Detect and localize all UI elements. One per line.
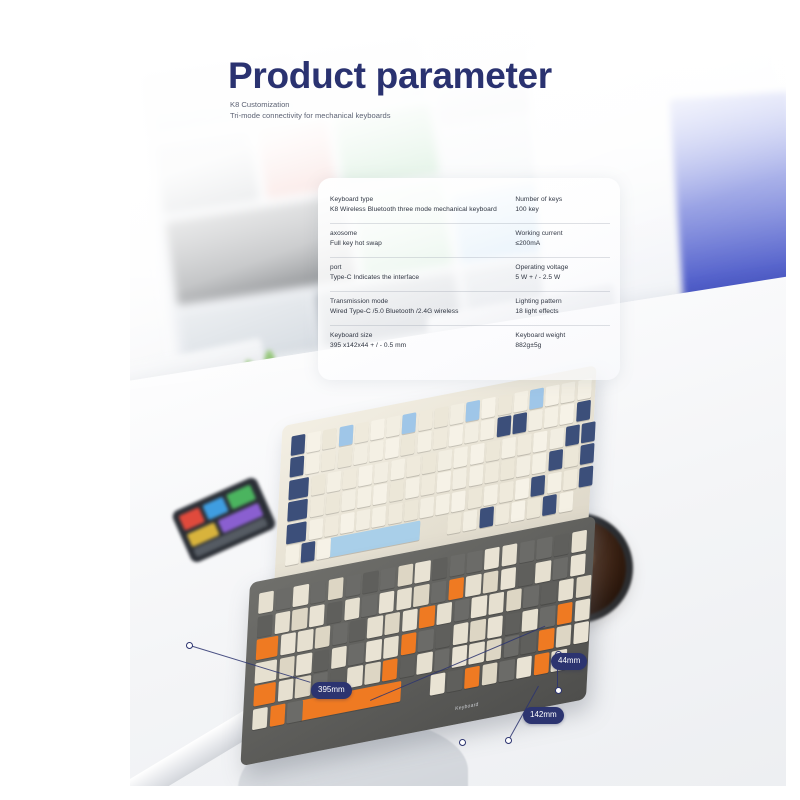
keycap [362, 570, 378, 594]
keycap [486, 638, 502, 662]
keycap [577, 378, 592, 400]
keycap [349, 619, 365, 643]
keycap [297, 629, 313, 653]
spec-row: Keyboard typeK8 Wireless Bluetooth three… [330, 190, 610, 224]
keycap [480, 419, 495, 441]
keycap [344, 597, 360, 621]
keycap [505, 612, 521, 636]
keycap [325, 492, 340, 514]
keycap [379, 590, 395, 614]
keycap [565, 424, 580, 446]
keycap [353, 443, 368, 465]
keycap [549, 427, 564, 449]
keycap [405, 477, 420, 499]
keycap [501, 436, 516, 458]
keycap [305, 453, 320, 475]
keycap [308, 518, 323, 540]
keycap [419, 605, 435, 629]
spec-value: Wired Type-C /5.0 Bluetooth /2.4G wirele… [330, 307, 515, 317]
keycap [481, 662, 497, 686]
spec-value: K8 Wireless Bluetooth three mode mechani… [330, 205, 515, 215]
keycap [452, 622, 468, 646]
keycap [483, 484, 498, 506]
keycap [373, 483, 388, 505]
keycap [523, 585, 539, 609]
keycap [447, 669, 463, 693]
spec-cell-right: Number of keys100 key [515, 195, 610, 214]
keycap [328, 577, 344, 601]
keycap [519, 540, 535, 564]
keycap [465, 573, 481, 597]
keycap [557, 602, 573, 626]
keycap [451, 490, 466, 512]
keycap [399, 655, 415, 679]
keycap [432, 557, 448, 581]
page-subtitle: K8 Customization Tri-mode connectivity f… [230, 99, 391, 122]
spec-key: Lighting pattern [515, 297, 610, 307]
keycap [277, 679, 293, 703]
keycap [361, 593, 377, 617]
keycap [418, 409, 433, 431]
keycap [558, 578, 574, 602]
keycap [552, 556, 568, 580]
keycap [495, 503, 510, 525]
keycap [576, 400, 591, 422]
keycap [516, 655, 532, 679]
keycap [436, 602, 452, 626]
keycap [513, 391, 528, 413]
keycap [437, 471, 452, 493]
keycap [522, 608, 538, 632]
keycap [563, 468, 578, 490]
keycap [274, 610, 290, 634]
keycap [384, 612, 400, 636]
keycap [434, 406, 449, 428]
keycap [454, 599, 470, 623]
keycap [536, 536, 552, 560]
page-title: Product parameter [228, 55, 552, 97]
keycap [372, 505, 387, 527]
keycap [301, 541, 316, 563]
keycap [487, 615, 503, 639]
keycap [454, 446, 469, 468]
keycap [310, 474, 325, 496]
spec-value: ≤200mA [515, 239, 610, 249]
keycap [528, 409, 543, 431]
keycap [287, 700, 303, 724]
keycap [342, 467, 357, 489]
keycap [450, 403, 465, 425]
spec-value: 395 x142x44 + / - 0.5 mm [330, 341, 515, 351]
keycap [496, 416, 511, 438]
keycap [529, 387, 544, 409]
keycap [464, 422, 479, 444]
keycap [544, 406, 559, 428]
keycap [488, 592, 504, 616]
keycap [354, 421, 369, 443]
keycap [545, 384, 560, 406]
keycap [484, 462, 499, 484]
keycap [499, 481, 514, 503]
spec-cell-left: axosomeFull key hot swap [330, 229, 515, 248]
keycap [385, 437, 400, 459]
keycap [326, 470, 341, 492]
keycap [358, 464, 373, 486]
keycap [280, 632, 296, 656]
keycap [578, 465, 593, 487]
keycap [575, 575, 591, 599]
product-parameter-page: Keyboard 395mm 142mm 44mm Product parame… [0, 0, 800, 800]
keycap [386, 415, 401, 437]
keycap [499, 659, 515, 683]
keycap [389, 480, 404, 502]
keycap [484, 547, 500, 571]
keycap [533, 430, 548, 452]
keycap [449, 425, 464, 447]
keycap [573, 621, 589, 645]
keycap [293, 584, 309, 608]
keycap [463, 509, 478, 531]
keycap [560, 403, 575, 425]
keycap [469, 443, 484, 465]
screen-tile [154, 130, 259, 213]
keycap [416, 652, 432, 676]
keycap [332, 622, 348, 646]
keycap [452, 468, 467, 490]
keycap [548, 449, 563, 471]
keycap [383, 635, 399, 659]
keycap [288, 477, 309, 500]
keycap [581, 421, 596, 443]
keycap [347, 665, 363, 689]
keycap [296, 652, 312, 676]
keycap [367, 615, 383, 639]
keycap [451, 645, 467, 669]
keycap [518, 563, 534, 587]
keycap [538, 628, 554, 652]
spec-key: Operating voltage [515, 263, 610, 273]
keycap [535, 560, 551, 584]
keycap [506, 588, 522, 612]
keycap [467, 550, 483, 574]
keycap [497, 394, 512, 416]
keycap [421, 474, 436, 496]
keycap [485, 440, 500, 462]
keycap [527, 497, 542, 519]
spec-row: portType-C Indicates the interfaceOperat… [330, 258, 610, 292]
spec-table: Keyboard typeK8 Wireless Bluetooth three… [330, 190, 610, 372]
keycap [521, 632, 537, 656]
keycap [543, 494, 558, 516]
spec-value: 18 light effects [515, 307, 610, 317]
spec-cell-right: Working current≤200mA [515, 229, 610, 248]
keycap [321, 450, 336, 472]
keycap [431, 580, 447, 604]
keycap [310, 580, 326, 604]
keycap [275, 587, 291, 611]
keycap [540, 582, 556, 606]
keycap [448, 577, 464, 601]
keycap [404, 499, 419, 521]
keycap [400, 632, 416, 656]
keycap [561, 381, 576, 403]
keycap [555, 625, 571, 649]
keycap [307, 431, 322, 453]
spec-value: 882g±5g [515, 341, 610, 351]
keycap [517, 433, 532, 455]
spec-key: Keyboard size [330, 331, 515, 341]
spec-cell-left: Keyboard size395 x142x44 + / - 0.5 mm [330, 331, 515, 350]
keycap [419, 496, 434, 518]
keycap [356, 508, 371, 530]
keycap [258, 590, 274, 614]
spec-row: Transmission modeWired Type-C /5.0 Bluet… [330, 292, 610, 326]
keycap [422, 452, 437, 474]
keycap [380, 567, 396, 591]
keycap [532, 452, 547, 474]
keycap [468, 465, 483, 487]
keycap [479, 506, 494, 528]
keycap [418, 629, 434, 653]
keycap [501, 543, 517, 567]
spec-cell-right: Operating voltage5 W + / - 2.5 W [515, 263, 610, 282]
spec-key: axosome [330, 229, 515, 239]
keycap [413, 583, 429, 607]
keycap [315, 626, 331, 650]
keycap [341, 489, 356, 511]
spec-cell-left: portType-C Indicates the interface [330, 263, 515, 282]
keycap [435, 493, 450, 515]
keycap [417, 431, 432, 453]
keycap [402, 412, 417, 434]
spec-cell-right: Keyboard weight882g±5g [515, 331, 610, 350]
product-photo: Keyboard [130, 0, 786, 786]
keycap [291, 434, 306, 456]
keycap [388, 502, 403, 524]
keycap [481, 397, 496, 419]
keycap [357, 486, 372, 508]
keycap [551, 649, 567, 673]
keycap [257, 614, 273, 638]
keycap [574, 598, 590, 622]
keycap [330, 669, 346, 693]
keycap [533, 652, 549, 676]
keycap [285, 544, 300, 566]
keycap [571, 530, 587, 554]
keycap [326, 600, 342, 624]
keycap [309, 496, 324, 518]
keycap [295, 675, 311, 699]
keycap [570, 553, 586, 577]
spec-cell-left: Keyboard typeK8 Wireless Bluetooth three… [330, 195, 515, 214]
spec-key: Keyboard type [330, 195, 515, 205]
keycap [366, 639, 382, 663]
keycap [553, 533, 569, 557]
keycap [364, 662, 380, 686]
keycap [512, 413, 527, 435]
keycap [374, 461, 389, 483]
keycap [338, 425, 353, 447]
keycap [580, 443, 595, 465]
spec-row: Keyboard size395 x142x44 + / - 0.5 mmKey… [330, 326, 610, 360]
keycap [290, 456, 305, 478]
keycap [292, 607, 308, 631]
keycap [500, 566, 516, 590]
page-subtitle-line2: Tri-mode connectivity for mechanical key… [230, 110, 391, 121]
keycap [390, 458, 405, 480]
keycap [429, 672, 445, 696]
keycap [414, 560, 430, 584]
keycap [511, 500, 526, 522]
spec-cell-left: Transmission modeWired Type-C /5.0 Bluet… [330, 297, 515, 316]
keycap [406, 455, 421, 477]
keycap [345, 574, 361, 598]
keycap [470, 618, 486, 642]
spec-key: Working current [515, 229, 610, 239]
spec-value: 5 W + / - 2.5 W [515, 273, 610, 283]
keycap [464, 666, 480, 690]
keycap [337, 447, 352, 469]
keycap [309, 604, 325, 628]
keycap [312, 672, 328, 696]
keycap [369, 440, 384, 462]
spec-value: 100 key [515, 205, 610, 215]
keycap [438, 449, 453, 471]
keycap [469, 642, 485, 666]
keycap [433, 428, 448, 450]
keycap [558, 491, 573, 513]
keycap [467, 487, 482, 509]
keycap [401, 609, 417, 633]
spec-key: Transmission mode [330, 297, 515, 307]
keycap [317, 538, 332, 560]
keycap [447, 512, 462, 534]
keycap [331, 645, 347, 669]
keycap [515, 477, 530, 499]
spec-value: Type-C Indicates the interface [330, 273, 515, 283]
keycap [396, 587, 412, 611]
spec-key: port [330, 263, 515, 273]
keycap [286, 521, 307, 544]
keycap [313, 649, 329, 673]
keycap [382, 659, 398, 683]
keycap [340, 511, 355, 533]
keycap [503, 635, 519, 659]
keycap [564, 446, 579, 468]
spec-key: Keyboard weight [515, 331, 610, 341]
keycap [348, 642, 364, 666]
keycap [397, 563, 413, 587]
keycap [322, 428, 337, 450]
spec-row: axosomeFull key hot swapWorking current≤… [330, 224, 610, 258]
keycap [500, 458, 515, 480]
keycap [471, 595, 487, 619]
page-subtitle-line1: K8 Customization [230, 99, 391, 110]
spec-value: Full key hot swap [330, 239, 515, 249]
keycap [279, 656, 295, 680]
keycap [269, 703, 285, 727]
spec-table-card: Keyboard typeK8 Wireless Bluetooth three… [318, 178, 620, 380]
keycap [466, 400, 481, 422]
spec-cell-right: Lighting pattern18 light effects [515, 297, 610, 316]
keycap [434, 648, 450, 672]
keycap [401, 434, 416, 456]
keycap [516, 455, 531, 477]
keycap [483, 570, 499, 594]
spec-key: Number of keys [515, 195, 610, 205]
keycap [531, 474, 546, 496]
keycap [370, 418, 385, 440]
keycap [547, 471, 562, 493]
keycap [449, 553, 465, 577]
keycap [324, 515, 339, 537]
keycap [539, 605, 555, 629]
keycap [252, 707, 268, 731]
keycap [435, 625, 451, 649]
